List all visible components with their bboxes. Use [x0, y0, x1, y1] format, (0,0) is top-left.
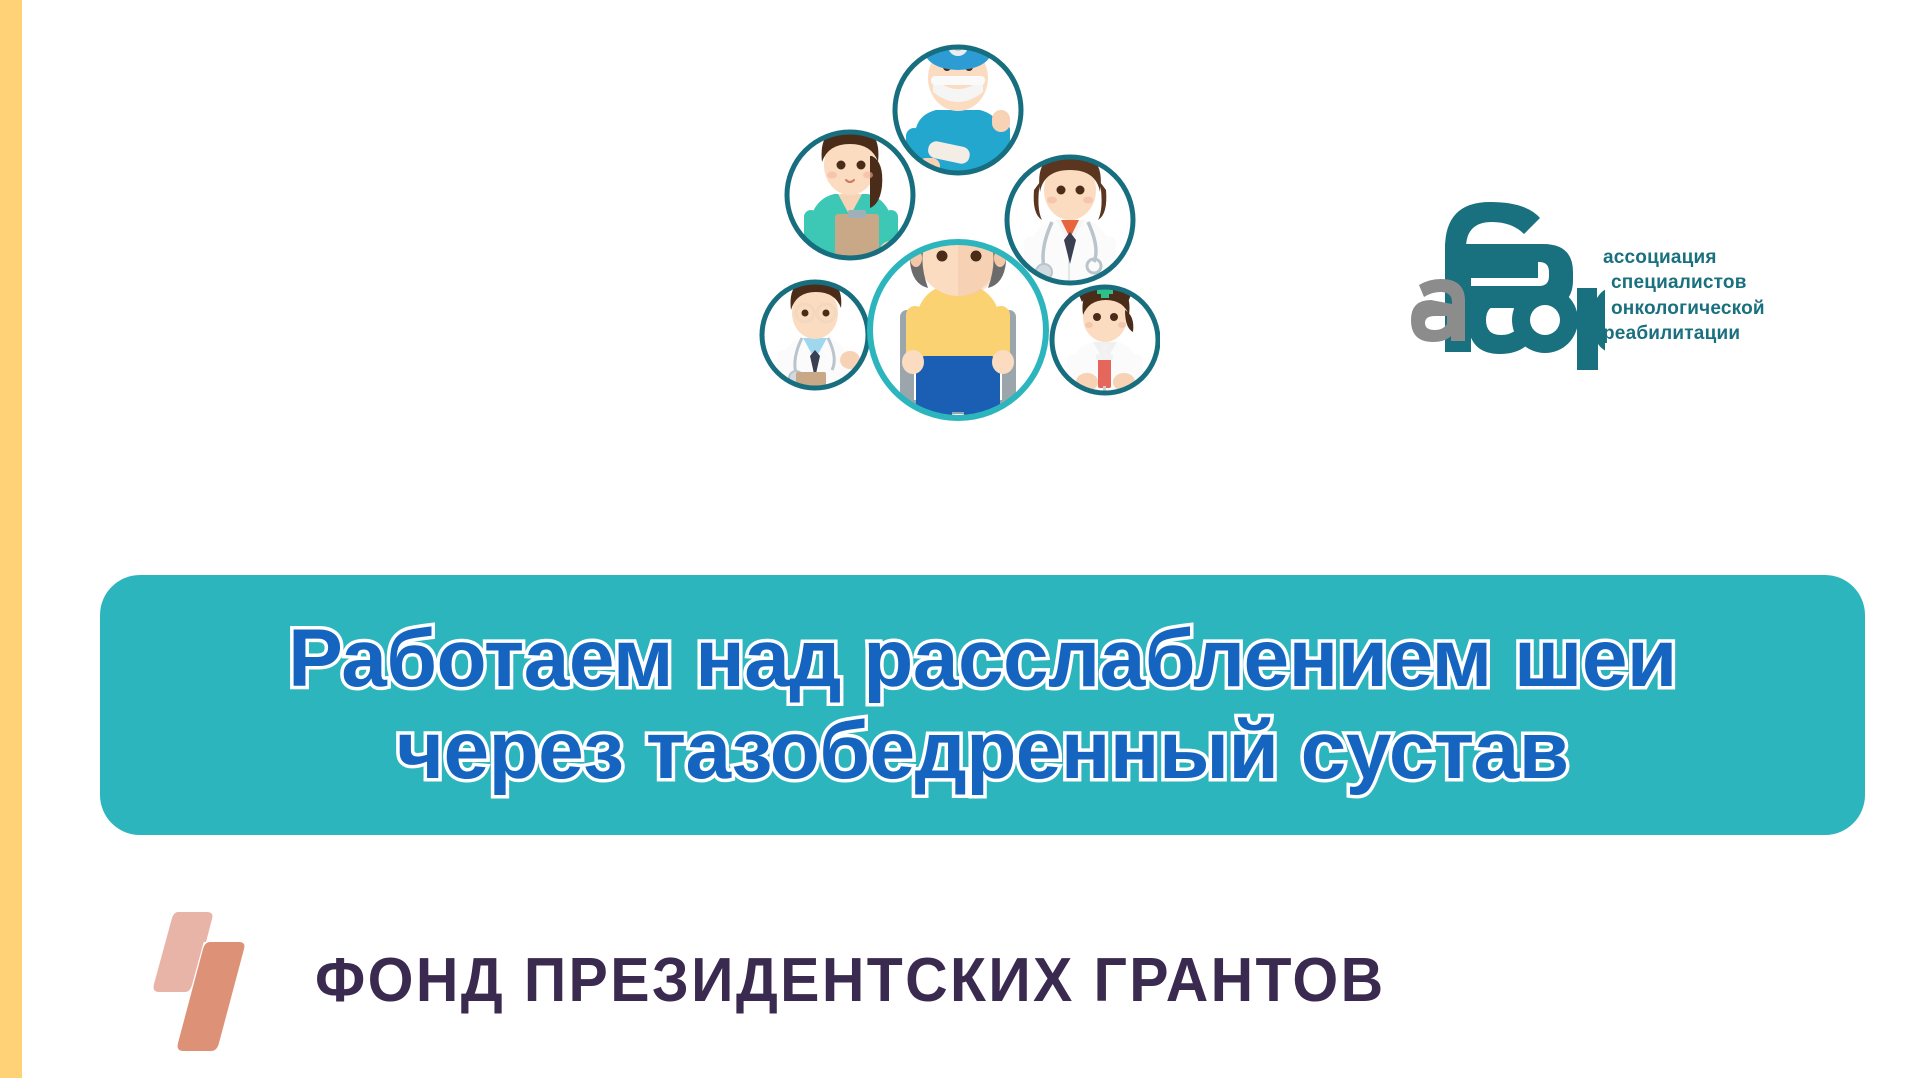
presidential-grants-mark-icon [150, 900, 290, 1060]
title-banner: Работаем над расслаблением шеи через таз… [100, 575, 1865, 835]
asor-tagline-line-3: онкологической [1603, 296, 1765, 321]
asor-tagline: ассоциация специалистов онкологической р… [1603, 245, 1765, 346]
title-line-2: через тазобедренный сустав [396, 709, 1568, 793]
title-line-1: Работаем над расслаблением шеи [288, 617, 1677, 701]
male-doctor-avatar-circle [762, 278, 868, 398]
presidential-grants-fund-text: ФОНД ПРЕЗИДЕНТСКИХ ГРАНТОВ [315, 945, 1386, 1016]
left-accent-stripe [0, 0, 22, 1078]
asor-tagline-line-4: реабилитации [1603, 321, 1765, 346]
asor-logo: ассоциация специалистов онкологической р… [1405, 190, 1805, 375]
asor-tagline-line-1: ассоциация [1603, 245, 1765, 270]
surgeon-avatar-circle [895, 34, 1021, 180]
asor-tagline-line-2: специалистов [1603, 270, 1765, 295]
presidential-grants-fund-logo: ФОНД ПРЕЗИДЕНТСКИХ ГРАНТОВ [150, 900, 1442, 1060]
female-doctor-avatar-circle [1007, 152, 1133, 290]
asor-monogram-icon [1405, 190, 1605, 370]
medical-team-illustration [600, 10, 1160, 450]
nurse-syringe-avatar-circle [1052, 280, 1158, 399]
nurse-clipboard-avatar-circle [787, 126, 913, 272]
